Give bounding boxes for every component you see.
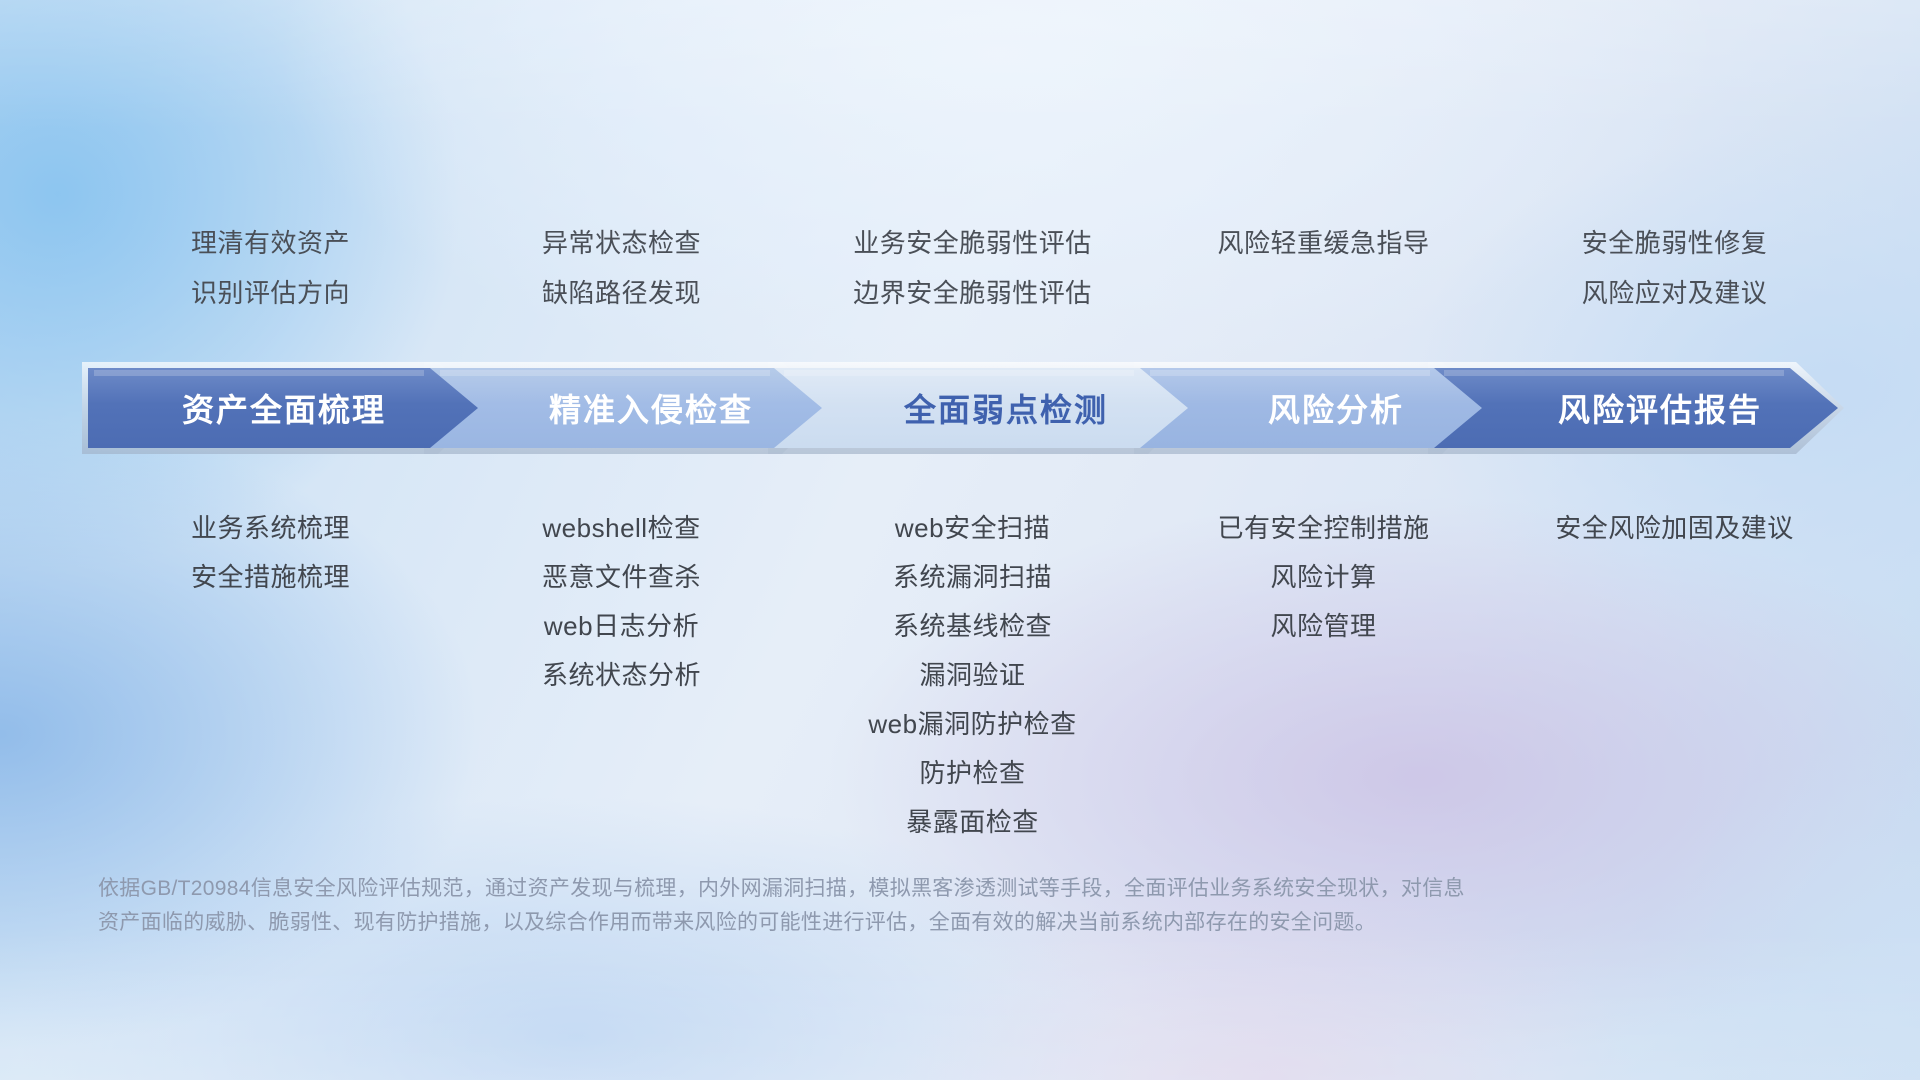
stage-bottom-item: 风险计算: [1270, 564, 1376, 590]
stage-bottom-item: web安全扫描: [895, 515, 1050, 541]
stage-bottom-items-4: 安全风险加固及建议: [1499, 515, 1850, 858]
stage-bottom-items-row: 业务系统梳理 安全措施梳理 webshell检查 恶意文件查杀 web日志分析 …: [95, 515, 1850, 858]
stage-bottom-item: 业务系统梳理: [191, 515, 350, 541]
stage-top-item: 缺陷路径发现: [542, 280, 701, 306]
stage-top-items-0: 理清有效资产 识别评估方向: [95, 230, 446, 330]
description-note-line: 资产面临的威胁、脆弱性、现有防护措施，以及综合作用而带来风险的可能性进行评估，全…: [98, 906, 1618, 940]
stage-top-item: 安全脆弱性修复: [1582, 230, 1768, 256]
stage-bottom-items-2: web安全扫描 系统漏洞扫描 系统基线检查 漏洞验证 web漏洞防护检查 防护检…: [797, 515, 1148, 858]
chevron-risk-report: [1434, 368, 1838, 448]
stage-bottom-item: 防护检查: [919, 760, 1025, 786]
stage-top-items-4: 安全脆弱性修复 风险应对及建议: [1499, 230, 1850, 330]
stage-bottom-items-3: 已有安全控制措施 风险计算 风险管理: [1148, 515, 1499, 858]
stage-top-item: 风险轻重缓急指导: [1217, 230, 1429, 256]
stage-bottom-item: web漏洞防护检查: [868, 711, 1076, 737]
stage-bottom-item: 系统基线检查: [893, 613, 1052, 639]
stage-bottom-items-1: webshell检查 恶意文件查杀 web日志分析 系统状态分析: [446, 515, 797, 858]
stage-top-item: 风险应对及建议: [1582, 280, 1768, 306]
stage-bottom-item: webshell检查: [542, 515, 700, 541]
stage-top-items-row: 理清有效资产 识别评估方向 异常状态检查 缺陷路径发现 业务安全脆弱性评估 边界…: [95, 230, 1850, 330]
stage-top-item: 业务安全脆弱性评估: [853, 230, 1092, 256]
stage-bottom-item: web日志分析: [544, 613, 699, 639]
chevron-asset-inventory: [88, 368, 480, 448]
stage-bottom-item: 已有安全控制措施: [1217, 515, 1429, 541]
process-chevron-band: 资产全面梳理 精准入侵检查 全面弱点检测 风险分析 风险评估报告: [88, 368, 1838, 448]
stage-top-item: 异常状态检查: [542, 230, 701, 256]
stage-top-items-2: 业务安全脆弱性评估 边界安全脆弱性评估: [797, 230, 1148, 330]
description-note-line: 依据GB/T20984信息安全风险评估规范，通过资产发现与梳理，内外网漏洞扫描，…: [98, 872, 1618, 906]
chevron-shapes: [88, 368, 1838, 448]
chevron-intrusion-inspection: [430, 368, 824, 448]
stage-top-item: 边界安全脆弱性评估: [853, 280, 1092, 306]
stage-bottom-item: 风险管理: [1270, 613, 1376, 639]
description-note: 依据GB/T20984信息安全风险评估规范，通过资产发现与梳理，内外网漏洞扫描，…: [98, 872, 1618, 940]
stage-top-item: 识别评估方向: [191, 280, 350, 306]
stage-bottom-item: 安全措施梳理: [191, 564, 350, 590]
stage-top-item: 理清有效资产: [191, 230, 350, 256]
stage-bottom-item: 系统漏洞扫描: [893, 564, 1052, 590]
stage-top-items-1: 异常状态检查 缺陷路径发现: [446, 230, 797, 330]
stage-top-items-3: 风险轻重缓急指导: [1148, 230, 1499, 330]
stage-bottom-item: 漏洞验证: [919, 662, 1025, 688]
chevron-weakness-detection: [774, 368, 1190, 448]
stage-bottom-item: 暴露面检查: [906, 809, 1039, 835]
stage-bottom-item: 系统状态分析: [542, 662, 701, 688]
stage-bottom-item: 安全风险加固及建议: [1555, 515, 1794, 541]
stage-bottom-items-0: 业务系统梳理 安全措施梳理: [95, 515, 446, 858]
chevron-risk-analysis: [1140, 368, 1484, 448]
stage-bottom-item: 恶意文件查杀: [542, 564, 701, 590]
